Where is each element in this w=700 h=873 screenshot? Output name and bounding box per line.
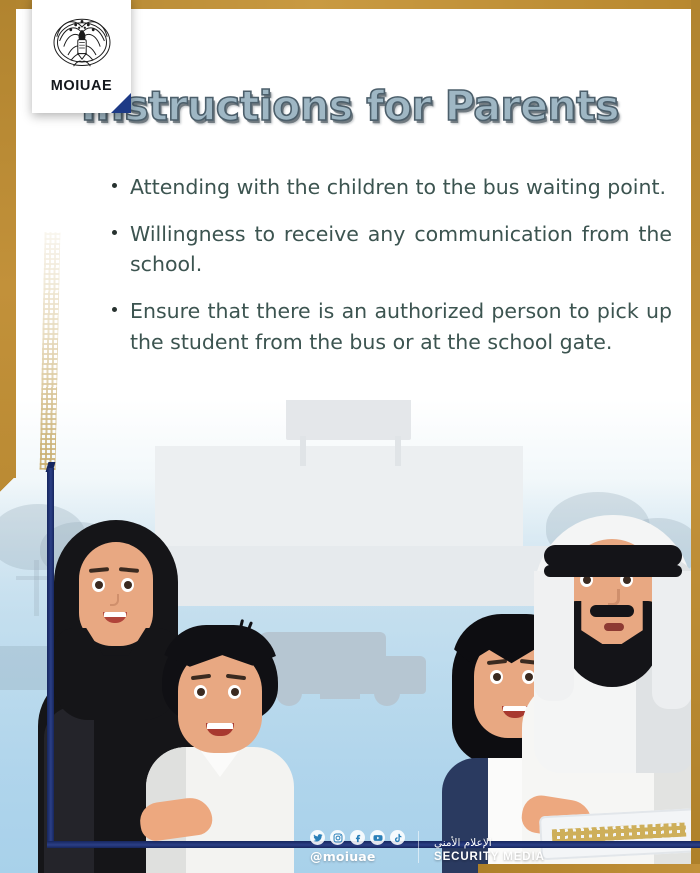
social-handle[interactable]: @moiuae: [310, 849, 376, 864]
footer-bar: @moiuae الإعلام الأمني SECURITY MEDIA: [0, 815, 700, 873]
security-media-english: SECURITY MEDIA: [434, 851, 545, 863]
school-sign-post: [395, 436, 401, 466]
list-item: Ensure that there is an authorized perso…: [108, 296, 672, 356]
tree-trunk: [34, 560, 39, 616]
twitter-icon[interactable]: [310, 830, 325, 845]
footer-divider: [418, 831, 419, 863]
poster-root: MOIUAE Instructions for Parents Attendin…: [0, 0, 700, 873]
school-sign: [286, 400, 411, 440]
facebook-icon[interactable]: [350, 830, 365, 845]
instagram-icon[interactable]: [330, 830, 345, 845]
security-media-arabic: الإعلام الأمني: [434, 837, 492, 849]
frame-border-right: [691, 0, 700, 873]
youtube-icon[interactable]: [370, 830, 385, 845]
school-sign-post: [300, 436, 306, 466]
list-item: Attending with the children to the bus w…: [108, 172, 672, 202]
social-links: [310, 830, 405, 845]
moi-wordmark: MOIUAE: [32, 78, 131, 94]
illustration-scene: [0, 400, 700, 873]
moi-logo-card: MOIUAE: [32, 0, 131, 113]
frame-border-left: [0, 0, 16, 478]
tiktok-icon[interactable]: [390, 830, 405, 845]
list-item: Willingness to receive any communication…: [108, 219, 672, 279]
logo-corner-triangle: [111, 93, 131, 113]
instructions-list: Attending with the children to the bus w…: [108, 172, 672, 357]
uae-eagle-emblem-icon: [47, 6, 117, 76]
bracket-vertical: [47, 468, 54, 848]
page-title-text: Instructions for Parents: [81, 82, 619, 130]
